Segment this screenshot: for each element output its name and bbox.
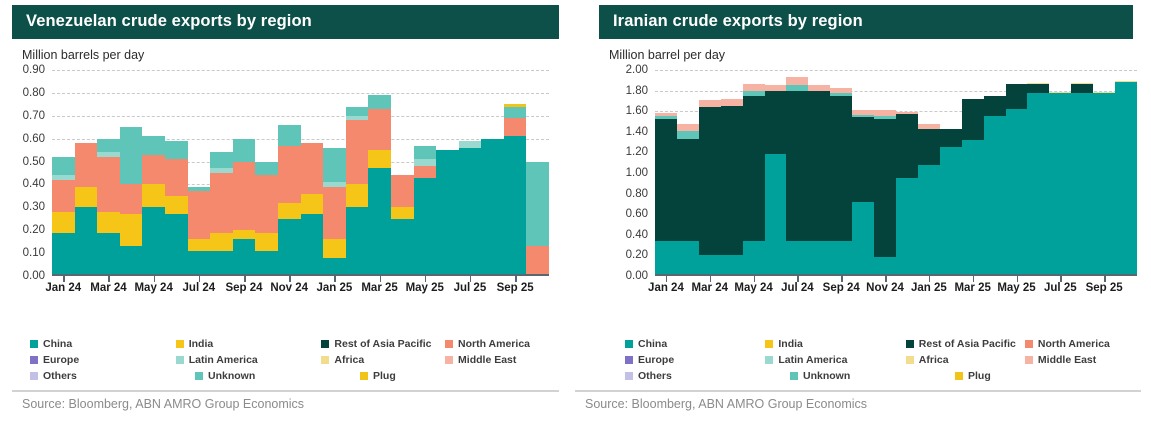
bar-segment-middle-east [786,77,808,85]
x-axis-label: Mar 25 [361,282,397,294]
stacked-bar[interactable] [852,70,874,276]
stacked-bar[interactable] [210,70,233,276]
stacked-bar[interactable] [188,70,211,276]
stacked-bar[interactable] [301,70,324,276]
legend-swatch-icon [30,356,38,364]
legend-label: Africa [334,354,364,366]
stacked-bar[interactable] [1093,70,1115,276]
x-axis-label: Jul 24 [781,282,814,294]
x-axis-label: Mar 24 [90,282,126,294]
bar-segment-china [1093,93,1115,276]
bar-segment-north-america [414,166,437,177]
y-axis-tick-label: 0.40 [626,229,648,241]
bar-segment-north-america [255,175,278,232]
x-axis-label: Mar 25 [954,282,990,294]
x-axis-label: Jan 25 [911,282,947,294]
panel-iran: Iranian crude exports by region Million … [575,0,1151,423]
stacked-bar[interactable] [1115,70,1137,276]
bar-segment-india [120,214,143,246]
bar-segment-rest-of-asia-pacific [743,96,765,241]
legend-venezuela: ChinaIndiaRest of Asia PacificNorth Amer… [0,336,575,384]
stacked-bar[interactable] [323,70,346,276]
bar-segment-china [165,214,188,276]
legend-label: China [638,338,667,350]
y-axis-tick-label: 1.80 [626,85,648,97]
legend-item-others[interactable]: Others [30,370,195,382]
bar-segment-china [1071,93,1093,276]
legend-item-north-america[interactable]: North America [445,338,551,350]
stacked-bar[interactable] [52,70,75,276]
stacked-bar[interactable] [940,70,962,276]
x-axis-label: Sep 25 [497,282,534,294]
bar-segment-china [436,150,459,276]
bar-segment-unknown [323,148,346,182]
y-axis-tick-label: 0.40 [23,178,45,190]
legend-label: China [43,338,72,350]
stacked-bar[interactable] [120,70,143,276]
legend-label: India [778,338,803,350]
legend-item-middle-east[interactable]: Middle East [1025,354,1127,366]
bar-segment-china [142,207,165,276]
legend-item-india[interactable]: India [176,338,322,350]
bar-segment-china [852,202,874,276]
legend-swatch-icon [625,340,633,348]
bar-segment-china [188,251,211,276]
bar-segment-china [120,246,143,276]
stacked-bar[interactable] [233,70,256,276]
legend-label: Europe [43,354,79,366]
legend-label: North America [1038,338,1110,350]
bar-segment-china [1115,82,1137,276]
legend-item-africa[interactable]: Africa [906,354,1025,366]
stacked-bar[interactable] [1027,70,1049,276]
bar-segment-rest-of-asia-pacific [940,129,962,148]
y-axis-tick-label: 0.80 [23,87,45,99]
legend-item-latin-america[interactable]: Latin America [765,354,905,366]
y-axis-tick-label: 1.60 [626,105,648,117]
bar-segment-north-america [52,180,75,212]
bar-segment-china [896,178,918,276]
legend-label: Plug [373,370,396,382]
legend-label: Europe [638,354,674,366]
bar-segment-rest-of-asia-pacific [1006,84,1028,109]
stacked-bar[interactable] [165,70,188,276]
x-axis-label: Sep 24 [823,282,860,294]
stacked-bar[interactable] [255,70,278,276]
legend-item-unknown[interactable]: Unknown [790,370,955,382]
legend-label: North America [458,338,530,350]
legend-label: Others [638,370,672,382]
legend-swatch-icon [765,340,773,348]
bar-segment-unknown [142,136,165,154]
stacked-bar[interactable] [874,70,896,276]
bar-segment-india [210,233,233,251]
bar-segment-rest-of-asia-pacific [918,129,940,165]
bar-segment-unknown [526,162,549,247]
x-axis-labels-venezuela: Jan 24Mar 24May 24Jul 24Sep 24Nov 24Jan … [52,282,549,300]
bar-segment-china [830,241,852,276]
x-axis-label: Nov 24 [866,282,904,294]
bar-group [52,70,549,276]
bar-segment-north-america [75,143,98,186]
bar-segment-india [233,230,256,239]
bar-segment-china [210,251,233,276]
legend-item-unknown[interactable]: Unknown [195,370,360,382]
legend-swatch-icon [445,340,453,348]
panel-subtitle-venezuela: Million barrels per day [22,48,575,62]
bar-segment-north-america [233,162,256,231]
bar-segment-india [368,150,391,168]
bar-segment-china [808,241,830,276]
y-axis-tick-label: 1.20 [626,146,648,158]
x-axis-label: Sep 25 [1086,282,1123,294]
bar-segment-rest-of-asia-pacific [1071,84,1093,92]
bar-segment-china [504,136,527,276]
bar-segment-china [481,139,504,276]
legend-swatch-icon [765,356,773,364]
bar-segment-china [233,239,256,276]
bar-segment-north-america [346,120,369,184]
y-axis-tick-label: 0.20 [626,249,648,261]
x-axis-label: Jul 25 [1044,282,1077,294]
bar-segment-rest-of-asia-pacific [830,96,852,241]
bar-segment-middle-east [721,99,743,106]
bar-segment-rest-of-asia-pacific [677,139,699,241]
bar-segment-north-america [323,187,346,240]
bar-segment-unknown [504,107,527,118]
bar-segment-china [255,251,278,276]
y-axis-tick-label: 2.00 [626,64,648,76]
legend-label: Unknown [803,370,850,382]
x-axis-label: Jan 24 [45,282,81,294]
bar-segment-india [255,233,278,251]
legend-swatch-icon [955,372,963,380]
x-axis-label: May 25 [997,282,1035,294]
stacked-bar[interactable] [721,70,743,276]
bar-segment-china [301,214,324,276]
legend-item-europe[interactable]: Europe [625,354,765,366]
bar-segment-china [391,219,414,276]
bar-segment-india [97,212,120,233]
x-axis-label: Sep 24 [225,282,262,294]
x-axis-label: May 24 [134,282,172,294]
bar-segment-unknown [233,139,256,162]
legend-swatch-icon [321,356,329,364]
bar-segment-unknown [677,131,699,139]
legend-label: Rest of Asia Pacific [334,338,431,350]
legend-item-latin-america[interactable]: Latin America [176,354,322,366]
x-axis-label: Jul 25 [454,282,487,294]
bar-segment-china [984,116,1006,276]
bar-segment-middle-east [699,100,721,107]
x-axis-label: Jul 24 [183,282,216,294]
legend-swatch-icon [445,356,453,364]
legend-item-middle-east[interactable]: Middle East [445,354,551,366]
stacked-bar[interactable] [743,70,765,276]
bar-segment-rest-of-asia-pacific [786,91,808,241]
bar-segment-china [743,241,765,276]
bar-segment-unknown [346,107,369,116]
stacked-bar[interactable] [504,70,527,276]
bar-segment-north-america [210,173,233,233]
bar-segment-latin-america [414,159,437,166]
bar-segment-china [97,233,120,276]
bar-segment-north-america [504,118,527,136]
x-axis-label: Jan 25 [316,282,352,294]
bar-segment-unknown [120,127,143,184]
y-axis-tick-label: 0.70 [23,110,45,122]
stacked-bar[interactable] [391,70,414,276]
x-axis-label: Jan 24 [648,282,684,294]
stacked-bar[interactable] [984,70,1006,276]
legend-label: Others [43,370,77,382]
bar-segment-china [918,165,940,276]
legend-label: Middle East [458,354,516,366]
stacked-bar[interactable] [962,70,984,276]
x-axis-label: Nov 24 [270,282,308,294]
legend-swatch-icon [625,372,633,380]
bar-segment-rest-of-asia-pacific [721,106,743,255]
bar-segment-india [278,203,301,219]
bar-segment-china [414,178,437,276]
legend-label: Rest of Asia Pacific [919,338,1016,350]
bar-segment-middle-east [677,124,699,131]
legend-swatch-icon [176,356,184,364]
bar-segment-china [962,140,984,276]
stacked-bar[interactable] [346,70,369,276]
bar-segment-china [278,219,301,276]
stacked-bar[interactable] [459,70,482,276]
bar-segment-rest-of-asia-pacific [984,96,1006,117]
chart-plot-venezuela: 0.000.100.200.300.400.500.600.700.800.90 [52,70,549,276]
panel-title-iran: Iranian crude exports by region [599,5,1133,39]
bar-segment-rest-of-asia-pacific [962,99,984,140]
bar-segment-china [940,147,962,276]
bar-segment-north-america [142,155,165,185]
legend-swatch-icon [360,372,368,380]
y-axis-tick-label: 0.20 [23,224,45,236]
legend-swatch-icon [906,356,914,364]
bar-segment-latin-america [459,141,482,148]
bar-segment-north-america [188,191,211,239]
bar-segment-china [368,168,391,276]
legend-row: EuropeLatin AmericaAfricaMiddle East [625,352,1127,368]
bar-segment-india [52,212,75,233]
bar-segment-india [142,184,165,207]
x-axis-label: May 25 [406,282,444,294]
bar-segment-unknown [52,157,75,175]
bar-segment-unknown [165,141,188,159]
bar-segment-china [346,207,369,276]
legend-row: OthersUnknownPlug [625,368,1127,384]
bar-segment-rest-of-asia-pacific [896,114,918,178]
y-axis-tick-label: 0.00 [23,270,45,282]
legend-item-china[interactable]: China [30,338,176,350]
bar-segment-unknown [255,162,278,176]
legend-item-rest-of-asia-pacific[interactable]: Rest of Asia Pacific [321,338,445,350]
stacked-bar[interactable] [655,70,677,276]
bar-segment-north-america [120,184,143,214]
legend-label: Plug [968,370,991,382]
legend-item-plug[interactable]: Plug [360,370,500,382]
bar-segment-china [75,207,98,276]
stacked-bar[interactable] [677,70,699,276]
bar-segment-china [1006,109,1028,276]
legend-swatch-icon [30,340,38,348]
bar-segment-china [765,154,787,276]
legend-swatch-icon [176,340,184,348]
y-axis-tick-label: 0.10 [23,247,45,259]
legend-iran: ChinaIndiaRest of Asia PacificNorth Amer… [575,336,1151,384]
legend-label: India [189,338,214,350]
stacked-bar[interactable] [368,70,391,276]
legend-label: Latin America [778,354,847,366]
source-note-venezuela: Source: Bloomberg, ABN AMRO Group Econom… [22,397,304,411]
legend-item-north-america[interactable]: North America [1025,338,1127,350]
bar-segment-china [786,241,808,276]
bar-segment-india [165,196,188,214]
legend-swatch-icon [321,340,329,348]
legend-item-plug[interactable]: Plug [955,370,1095,382]
bar-segment-china [1027,93,1049,276]
bar-segment-unknown [97,139,120,153]
bar-segment-unknown [414,146,437,160]
bar-segment-north-america [368,109,391,150]
bar-segment-rest-of-asia-pacific [765,91,787,155]
source-divider [575,390,1141,392]
legend-row: OthersUnknownPlug [30,368,551,384]
y-axis-tick-label: 0.60 [23,133,45,145]
legend-swatch-icon [906,340,914,348]
legend-item-rest-of-asia-pacific[interactable]: Rest of Asia Pacific [906,338,1025,350]
bar-segment-north-america [526,246,549,276]
y-axis-tick-label: 0.30 [23,201,45,213]
bar-segment-unknown [210,152,233,168]
stacked-bar[interactable] [75,70,98,276]
y-axis-tick-label: 0.60 [626,208,648,220]
bar-segment-china [677,241,699,276]
bar-segment-north-america [391,175,414,207]
plot-area-iran: 0.000.200.400.600.801.001.201.401.601.80… [599,70,1151,300]
legend-item-china[interactable]: China [625,338,765,350]
legend-swatch-icon [1025,356,1033,364]
stacked-bar[interactable] [526,70,549,276]
bar-segment-north-america [301,143,324,193]
bar-segment-china [459,148,482,276]
stacked-bar[interactable] [278,70,301,276]
legend-swatch-icon [790,372,798,380]
y-axis-tick-label: 0.00 [626,270,648,282]
bar-segment-india [346,184,369,207]
x-axis-label: May 24 [734,282,772,294]
bar-segment-rest-of-asia-pacific [655,119,677,241]
source-note-iran: Source: Bloomberg, ABN AMRO Group Econom… [585,397,867,411]
legend-swatch-icon [195,372,203,380]
legend-label: Unknown [208,370,255,382]
bar-segment-rest-of-asia-pacific [852,117,874,201]
bar-segment-north-america [165,159,188,196]
legend-swatch-icon [625,356,633,364]
stacked-bar[interactable] [142,70,165,276]
stacked-bar[interactable] [414,70,437,276]
bar-segment-india [75,187,98,208]
stacked-bar[interactable] [1006,70,1028,276]
legend-label: Africa [919,354,949,366]
bar-segment-unknown [368,95,391,109]
stacked-bar[interactable] [436,70,459,276]
stacked-bar[interactable] [699,70,721,276]
y-axis-tick-label: 0.90 [23,64,45,76]
y-axis-tick-label: 1.00 [626,167,648,179]
bar-segment-china [655,241,677,276]
bar-segment-india [188,239,211,250]
chart-plot-iran: 0.000.200.400.600.801.001.201.401.601.80… [655,70,1137,276]
y-axis-tick-label: 1.40 [626,126,648,138]
bar-segment-india [323,239,346,257]
stacked-bar[interactable] [481,70,504,276]
stacked-bar[interactable] [97,70,120,276]
stacked-bar[interactable] [808,70,830,276]
bar-segment-rest-of-asia-pacific [699,107,721,255]
source-divider [12,390,559,392]
bar-segment-rest-of-asia-pacific [1027,84,1049,92]
legend-item-india[interactable]: India [765,338,905,350]
y-axis-tick-label: 0.80 [626,188,648,200]
stacked-bar[interactable] [765,70,787,276]
bar-segment-rest-of-asia-pacific [874,119,896,257]
legend-swatch-icon [30,372,38,380]
bar-segment-unknown [278,125,301,146]
legend-label: Middle East [1038,354,1096,366]
legend-item-africa[interactable]: Africa [321,354,445,366]
legend-swatch-icon [1025,340,1033,348]
bar-segment-north-america [278,146,301,203]
panel-venezuela: Venezuelan crude exports by region Milli… [0,0,575,423]
panel-subtitle-iran: Million barrel per day [609,48,1151,62]
legend-row: ChinaIndiaRest of Asia PacificNorth Amer… [30,336,551,352]
bar-group [655,70,1137,276]
stacked-bar[interactable] [786,70,808,276]
legend-label: Latin America [189,354,258,366]
legend-item-europe[interactable]: Europe [30,354,176,366]
legend-row: EuropeLatin AmericaAfricaMiddle East [30,352,551,368]
bar-segment-india [391,207,414,218]
stacked-bar[interactable] [830,70,852,276]
stacked-bar[interactable] [1071,70,1093,276]
bar-segment-north-america [97,157,120,212]
stacked-bar[interactable] [1049,70,1071,276]
x-axis-labels-iran: Jan 24Mar 24May 24Jul 24Sep 24Nov 24Jan … [655,282,1137,300]
stacked-bar[interactable] [918,70,940,276]
stacked-bar[interactable] [896,70,918,276]
legend-row: ChinaIndiaRest of Asia PacificNorth Amer… [625,336,1127,352]
panel-title-venezuela: Venezuelan crude exports by region [12,5,559,39]
bar-segment-china [52,233,75,276]
bar-segment-india [301,194,324,215]
y-axis-tick-label: 0.50 [23,156,45,168]
legend-item-others[interactable]: Others [625,370,790,382]
dual-chart-figure: Venezuelan crude exports by region Milli… [0,0,1151,423]
plot-area-venezuela: 0.000.100.200.300.400.500.600.700.800.90… [0,70,575,300]
bar-segment-rest-of-asia-pacific [808,91,830,241]
x-axis-label: Mar 24 [692,282,728,294]
bar-segment-china [1049,93,1071,276]
